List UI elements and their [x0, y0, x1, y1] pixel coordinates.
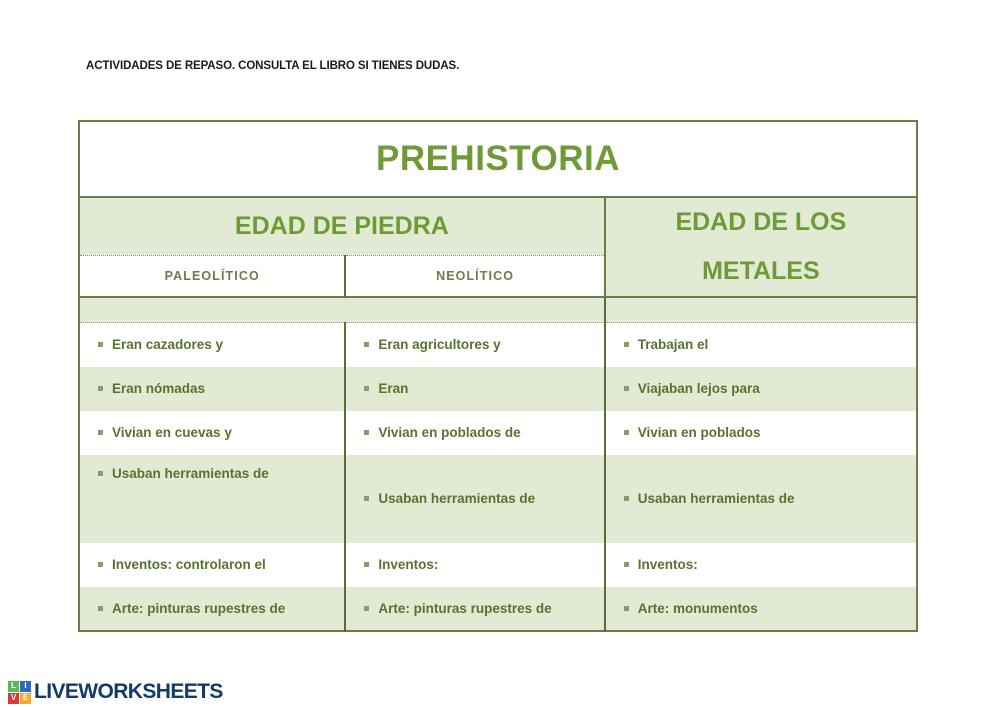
- table-row: Eran nómadas Eran Viajaban lejos para: [79, 367, 917, 411]
- table-row: Arte: pinturas rupestres de Arte: pintur…: [79, 587, 917, 631]
- logo-tile-e: E: [20, 693, 31, 704]
- spacer-left: [79, 297, 605, 323]
- bullet-icon: [98, 471, 103, 476]
- cell-paleolitico[interactable]: Vivian en cuevas y: [79, 411, 345, 455]
- logo-tile-v: V: [8, 693, 19, 704]
- bullet-icon: [364, 430, 369, 435]
- logo-tiles-icon: L I V E: [8, 681, 31, 704]
- cell-neolitico[interactable]: Usaban herramientas de: [345, 455, 604, 543]
- bullet-icon: [98, 342, 103, 347]
- liveworksheets-logo[interactable]: L I V E LIVEWORKSHEETS: [8, 680, 223, 704]
- logo-tile-i: I: [20, 681, 31, 692]
- bullet-icon: [624, 606, 629, 611]
- header-body-spacer: [79, 297, 917, 323]
- table-row: Usaban herramientas de Usaban herramient…: [79, 455, 917, 543]
- cell-metales[interactable]: Inventos:: [605, 543, 917, 587]
- cell-neolitico[interactable]: Arte: pinturas rupestres de: [345, 587, 604, 631]
- bullet-icon: [364, 342, 369, 347]
- logo-wordmark: LIVEWORKSHEETS: [34, 680, 223, 704]
- worksheet-instruction: ACTIVIDADES DE REPASO. CONSULTA EL LIBRO…: [86, 60, 459, 72]
- table-row: Inventos: controlaron el Inventos: Inven…: [79, 543, 917, 587]
- cell-paleolitico[interactable]: Usaban herramientas de: [79, 455, 345, 543]
- table-row: Eran cazadores y Eran agricultores y Tra…: [79, 323, 917, 367]
- era-header-row: EDAD DE PIEDRA EDAD DE LOS METALES: [79, 197, 917, 255]
- era-stone-header: EDAD DE PIEDRA: [79, 197, 605, 255]
- cell-neolitico[interactable]: Eran: [345, 367, 604, 411]
- spacer-right: [605, 297, 917, 323]
- bullet-icon: [364, 496, 369, 501]
- table-title: PREHISTORIA: [79, 121, 917, 197]
- cell-neolitico[interactable]: Eran agricultores y: [345, 323, 604, 367]
- bullet-icon: [624, 496, 629, 501]
- era-metals-header: EDAD DE LOS METALES: [605, 197, 917, 297]
- cell-paleolitico[interactable]: Eran nómadas: [79, 367, 345, 411]
- cell-paleolitico[interactable]: Eran cazadores y: [79, 323, 345, 367]
- bullet-icon: [98, 386, 103, 391]
- bullet-icon: [624, 430, 629, 435]
- bullet-icon: [364, 562, 369, 567]
- bullet-icon: [624, 562, 629, 567]
- table-row: Vivian en cuevas y Vivian en poblados de…: [79, 411, 917, 455]
- bullet-icon: [98, 430, 103, 435]
- bullet-icon: [624, 342, 629, 347]
- cell-metales[interactable]: Usaban herramientas de: [605, 455, 917, 543]
- bullet-icon: [364, 606, 369, 611]
- prehistoria-table: PREHISTORIA EDAD DE PIEDRA EDAD DE LOS M…: [78, 120, 918, 632]
- sub-period-paleolitico: PALEOLÍTICO: [79, 255, 345, 296]
- cell-metales[interactable]: Arte: monumentos: [605, 587, 917, 631]
- bullet-icon: [98, 562, 103, 567]
- bullet-icon: [624, 386, 629, 391]
- cell-paleolitico[interactable]: Arte: pinturas rupestres de: [79, 587, 345, 631]
- bullet-icon: [98, 606, 103, 611]
- cell-metales[interactable]: Trabajan el: [605, 323, 917, 367]
- cell-metales[interactable]: Vivian en poblados: [605, 411, 917, 455]
- logo-tile-l: L: [8, 681, 19, 692]
- cell-metales[interactable]: Viajaban lejos para: [605, 367, 917, 411]
- sub-period-neolitico: NEOLÍTICO: [345, 255, 604, 296]
- cell-neolitico[interactable]: Vivian en poblados de: [345, 411, 604, 455]
- bullet-icon: [364, 386, 369, 391]
- cell-neolitico[interactable]: Inventos:: [345, 543, 604, 587]
- cell-paleolitico[interactable]: Inventos: controlaron el: [79, 543, 345, 587]
- table-title-row: PREHISTORIA: [79, 121, 917, 197]
